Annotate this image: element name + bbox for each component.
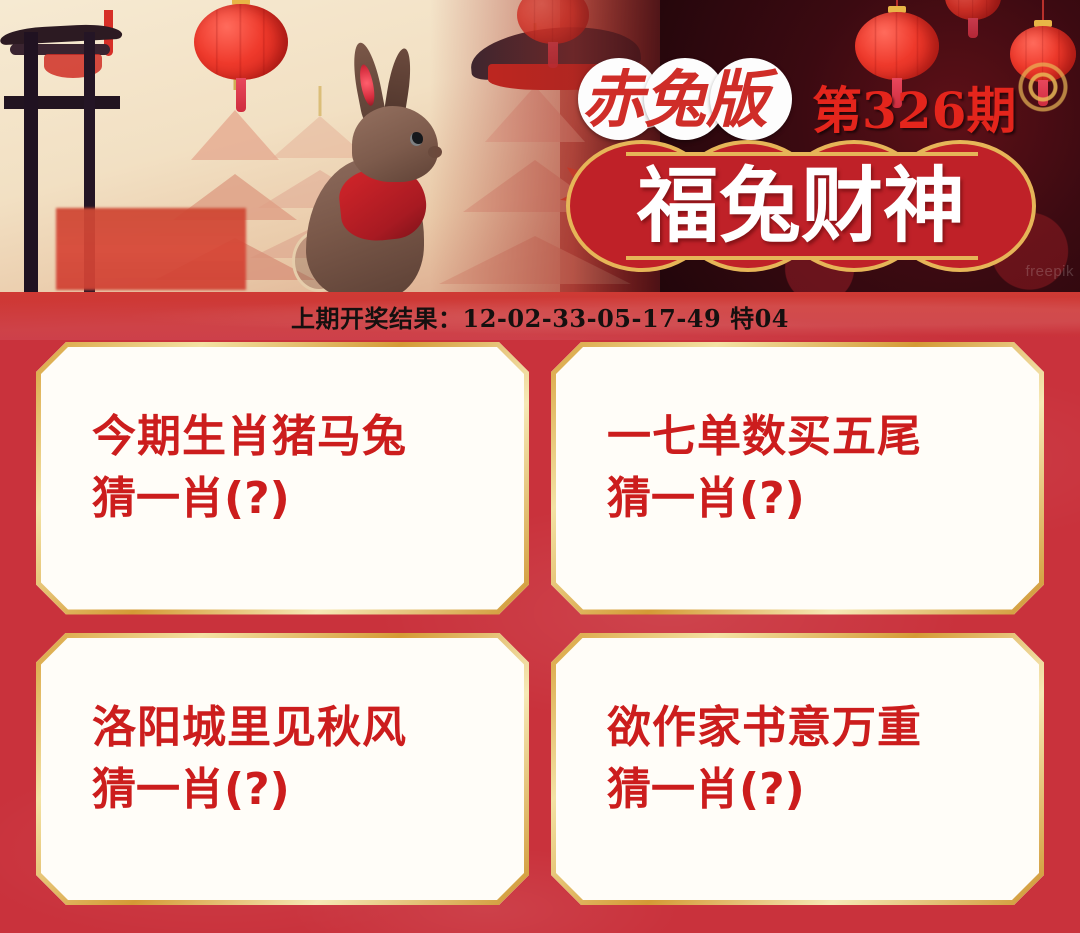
riddle-line-2: 猜一肖(?): [92, 759, 473, 821]
riddle-line-2: 猜一肖(?): [607, 468, 988, 530]
freepik-watermark: freepik: [1025, 263, 1074, 280]
poster-root: 赤兔版 第326期 福兔财神 freepik 上期开奖结果：12-02-33-0…: [0, 0, 1080, 933]
lantern-icon: [938, 0, 1008, 54]
censored-block: [56, 208, 246, 290]
riddle-card[interactable]: 洛阳城里见秋风 猜一肖(?): [36, 633, 529, 906]
poster-title: 福兔财神: [566, 140, 1036, 272]
card-content: 一七单数买五尾 猜一肖(?): [581, 376, 1014, 531]
last-draw-result-bar: 上期开奖结果：12-02-33-05-17-49 特04: [0, 292, 1080, 340]
card-content: 洛阳城里见秋风 猜一肖(?): [66, 667, 499, 822]
edition-badge: 赤兔版: [578, 58, 818, 144]
riddle-line-1: 一七单数买五尾: [607, 406, 988, 468]
last-draw-result-text: 上期开奖结果：12-02-33-05-17-49 特04: [291, 299, 789, 334]
riddle-card[interactable]: 一七单数买五尾 猜一肖(?): [551, 342, 1044, 615]
riddle-line-2: 猜一肖(?): [92, 468, 473, 530]
riddle-card[interactable]: 今期生肖猪马兔 猜一肖(?): [36, 342, 529, 615]
riddle-line-1: 欲作家书意万重: [607, 697, 988, 759]
lantern-icon: [186, 0, 296, 132]
banner-illustration: 赤兔版 第326期 福兔财神 freepik: [0, 0, 1080, 292]
card-content: 欲作家书意万重 猜一肖(?): [581, 667, 1014, 822]
title-plaque: 福兔财神: [566, 140, 1036, 272]
issue-number-label: 第326期: [812, 86, 1016, 136]
riddle-cards-grid: 今期生肖猪马兔 猜一肖(?) 一七单数买五尾 猜一肖(?) 洛阳城里见秋风 猜一…: [0, 340, 1080, 933]
riddle-line-2: 猜一肖(?): [607, 759, 988, 821]
riddle-card[interactable]: 欲作家书意万重 猜一肖(?): [551, 633, 1044, 906]
edition-badge-label: 赤兔版: [578, 60, 796, 140]
riddle-cards-area: 今期生肖猪马兔 猜一肖(?) 一七单数买五尾 猜一肖(?) 洛阳城里见秋风 猜一…: [0, 340, 1080, 933]
riddle-line-1: 洛阳城里见秋风: [92, 697, 473, 759]
card-content: 今期生肖猪马兔 猜一肖(?): [66, 376, 499, 531]
riddle-line-1: 今期生肖猪马兔: [92, 406, 473, 468]
